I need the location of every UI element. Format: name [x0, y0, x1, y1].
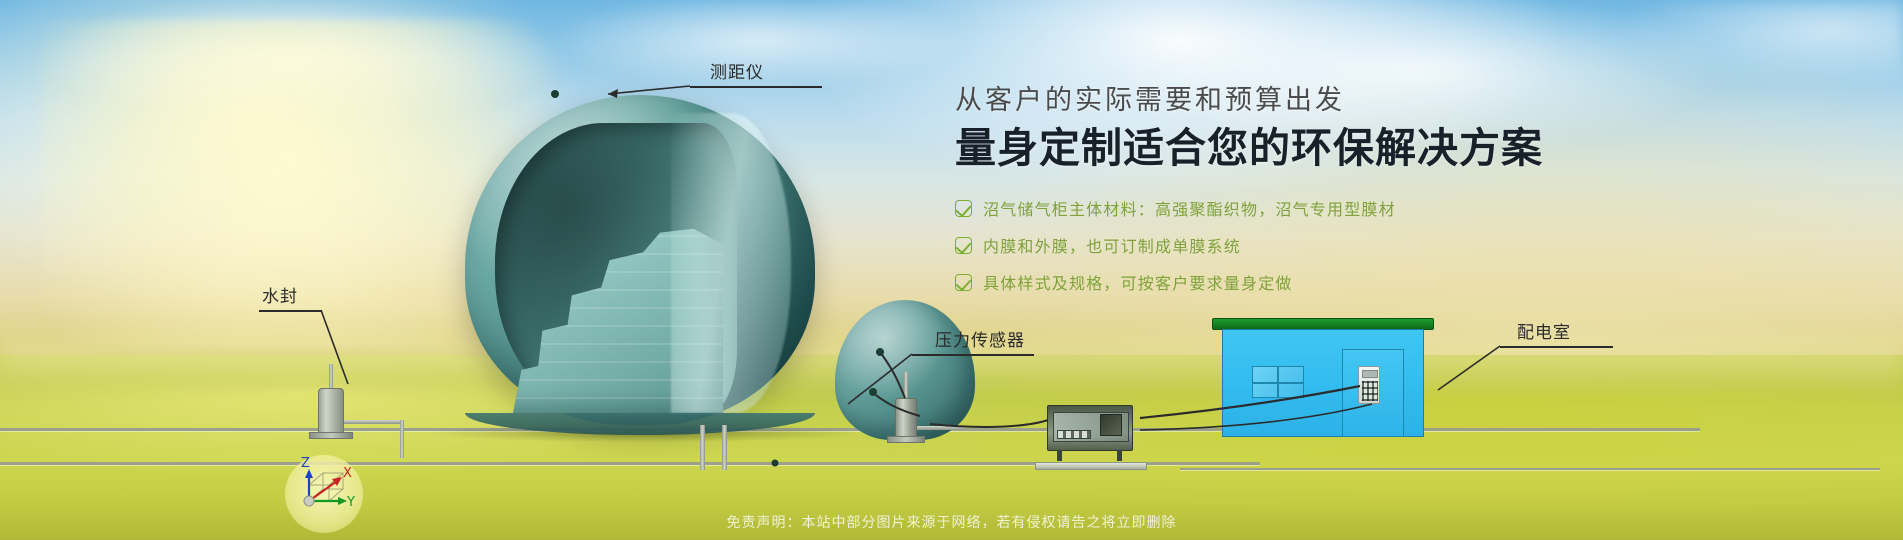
- disclaimer-text: 免责声明：本站中部分图片来源于网络，若有侵权请告之将立即删除: [0, 512, 1903, 532]
- subheadline: 从客户的实际需要和预算出发: [955, 86, 1655, 116]
- axis-label-x: X: [343, 466, 352, 481]
- feature-bullet-2-label: 内膜和外膜，也可订制成单膜系统: [983, 233, 1241, 257]
- axis-label-z: Z: [301, 456, 310, 471]
- feature-bullet-1-label: 沼气储气柜主体材料：高强聚酯织物，沼气专用型膜材: [983, 196, 1396, 220]
- axis-label-y: Y: [346, 495, 355, 510]
- marketing-text-panel: 从客户的实际需要和预算出发 量身定制适合您的环保解决方案 沼气储气柜主体材料：高…: [955, 86, 1655, 307]
- check-icon: [955, 200, 972, 217]
- feature-bullet-1: 沼气储气柜主体材料：高强聚酯织物，沼气专用型膜材: [955, 196, 1655, 220]
- check-icon: [955, 237, 972, 254]
- feature-bullet-3-label: 具体样式及规格，可按客户要求量身定做: [983, 270, 1293, 294]
- feature-bullet-2: 内膜和外膜，也可订制成单膜系统: [955, 233, 1655, 257]
- feature-bullet-3: 具体样式及规格，可按客户要求量身定做: [955, 270, 1655, 294]
- hero-banner: 测距仪 水封 压力传感器 配电室: [0, 0, 1903, 540]
- check-icon: [955, 274, 972, 291]
- main-headline: 量身定制适合您的环保解决方案: [955, 124, 1655, 172]
- feature-bullet-list: 沼气储气柜主体材料：高强聚酯织物，沼气专用型膜材 内膜和外膜，也可订制成单膜系统…: [955, 196, 1655, 294]
